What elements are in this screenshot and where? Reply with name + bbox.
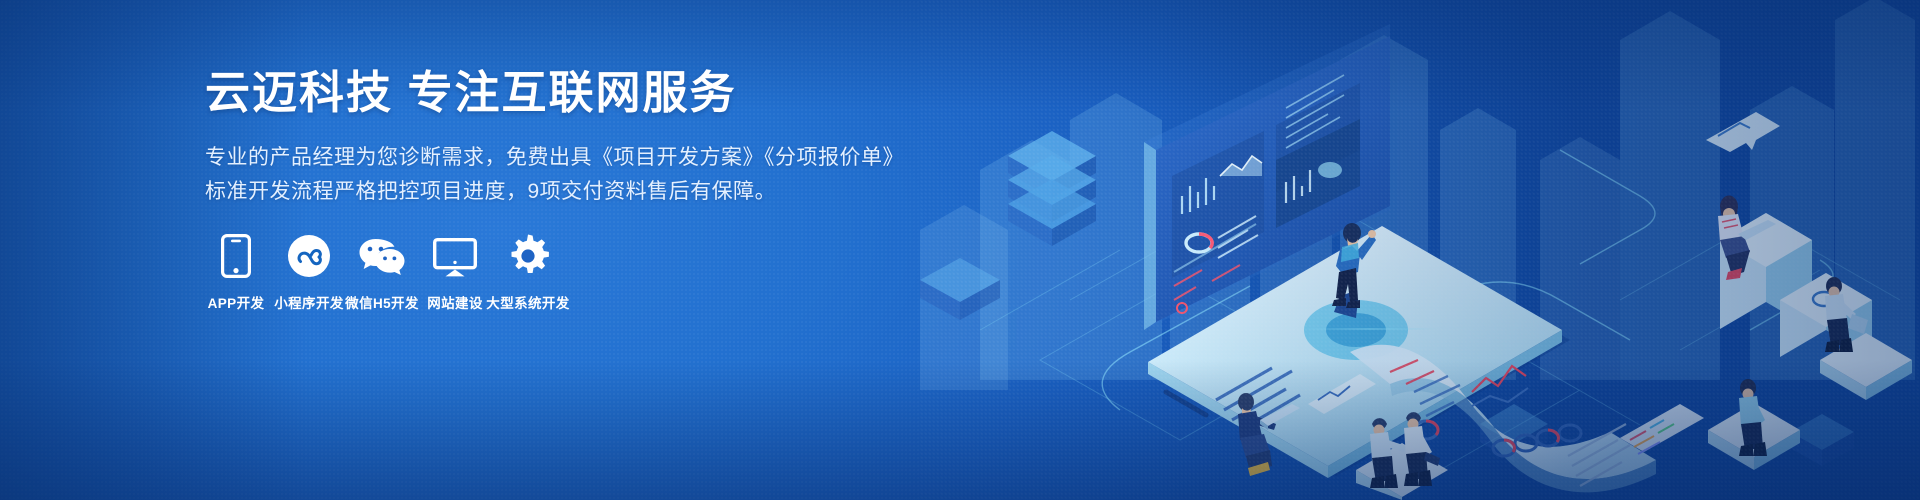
wechat-icon (358, 232, 406, 278)
subtitle-line-2: 标准开发流程严格把控项目进度，9项交付资料售后有保障。 (205, 175, 905, 209)
service-item-miniprogram[interactable]: 小程序开发 (273, 232, 345, 312)
page-title: 云迈科技 专注互联网服务 (205, 66, 905, 119)
mobile-phone-icon (221, 232, 251, 278)
service-item-website[interactable]: 网站建设 (419, 232, 491, 312)
service-icon-row: APP开发 小程序开发 (200, 232, 565, 312)
banner-copy: 云迈科技 专注互联网服务 专业的产品经理为您诊断需求，免费出具《项目开发方案》《… (205, 66, 905, 209)
promo-banner: 云迈科技 专注互联网服务 专业的产品经理为您诊断需求，免费出具《项目开发方案》《… (0, 0, 1920, 500)
mini-program-icon (287, 232, 331, 278)
banner-illustration (920, 0, 1920, 500)
desktop-monitor-icon (433, 232, 477, 278)
service-label: APP开发 (208, 292, 265, 312)
service-item-wechat-h5[interactable]: 微信H5开发 (346, 232, 418, 312)
service-label: 大型系统开发 (486, 292, 569, 312)
service-label: 微信H5开发 (345, 292, 419, 312)
service-item-app[interactable]: APP开发 (200, 232, 272, 312)
service-item-large-system[interactable]: 大型系统开发 (492, 232, 564, 312)
subtitle-line-1: 专业的产品经理为您诊断需求，免费出具《项目开发方案》《分项报价单》 (205, 141, 905, 175)
service-label: 网站建设 (427, 292, 483, 312)
subtitle-block: 专业的产品经理为您诊断需求，免费出具《项目开发方案》《分项报价单》 标准开发流程… (205, 141, 905, 209)
gear-icon (506, 232, 550, 278)
service-label: 小程序开发 (274, 292, 344, 312)
